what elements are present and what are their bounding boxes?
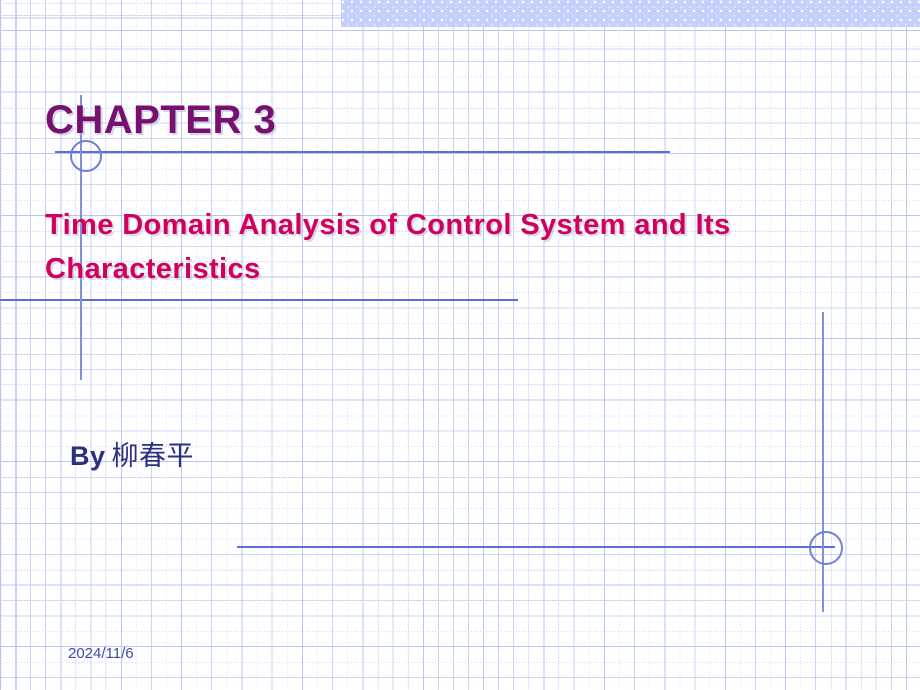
presentation-slide: CHAPTER 3 Time Domain Analysis of Contro… [0, 0, 920, 690]
chapter-label: CHAPTER 3 [45, 98, 276, 143]
lower-accent-rule [237, 546, 835, 548]
author-byline: By柳春平 [70, 434, 194, 473]
slide-date: 2024/11/6 [68, 645, 134, 662]
subtitle-underline-rule [0, 299, 518, 301]
slide-title: Time Domain Analysis of Control System a… [45, 203, 885, 291]
left-accent-circle [70, 140, 102, 172]
right-accent-circle [809, 531, 843, 565]
author-name: 柳春平 [112, 441, 195, 472]
author-prefix: By [70, 441, 106, 471]
chapter-underline-rule [55, 151, 670, 153]
dotted-banner-strip [341, 0, 920, 27]
right-accent-vertical-line [822, 312, 824, 612]
